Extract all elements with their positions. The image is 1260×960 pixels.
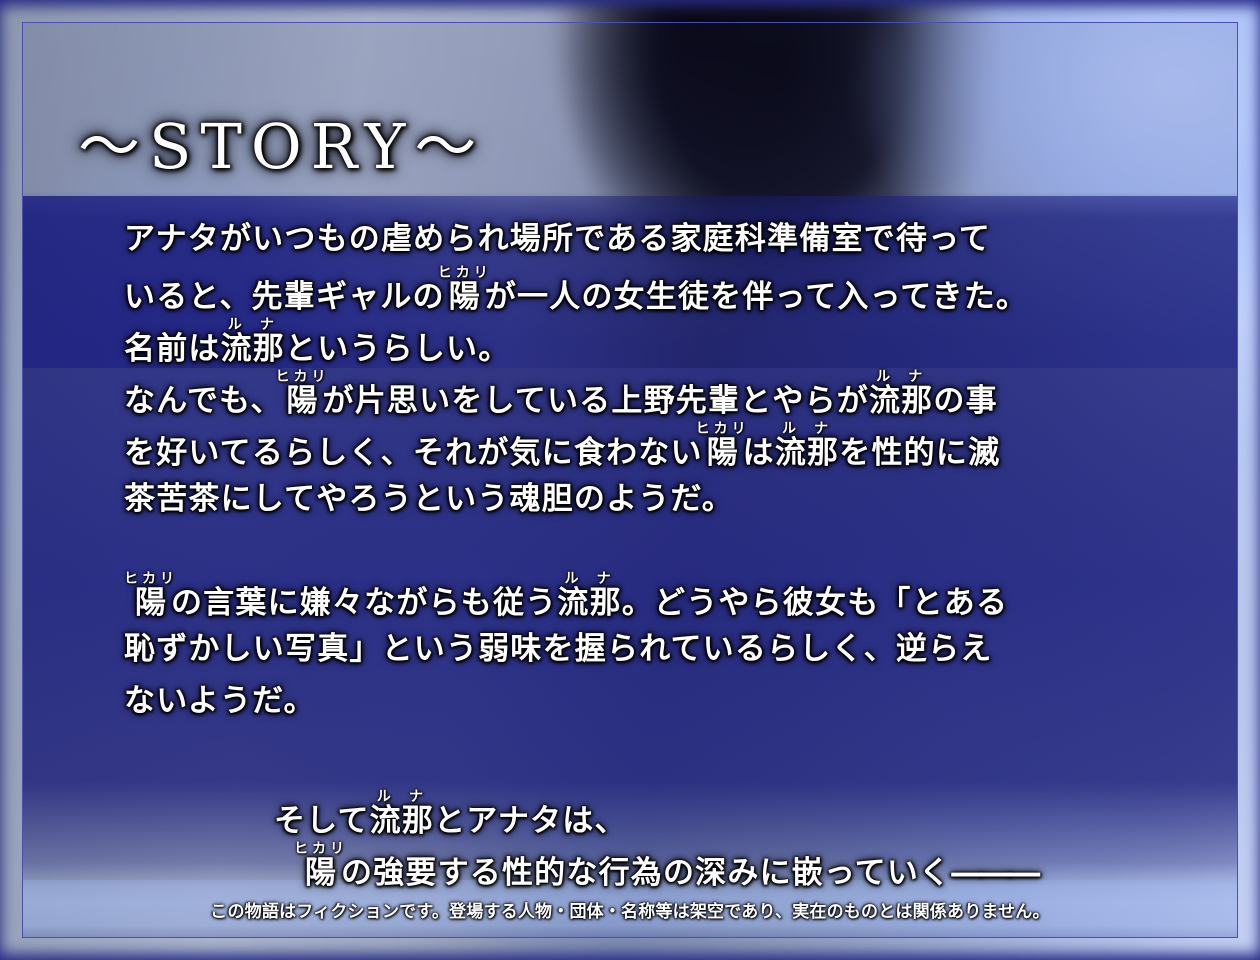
story-text: の言葉に嫌々ながらも従う — [171, 585, 557, 621]
page-title: ～STORY～ — [78, 96, 485, 186]
story-line: いると、先輩ギャルの陽ヒカリが一人の女生徒を伴って入ってきた。 — [124, 265, 1216, 317]
fiction-disclaimer: この物語はフィクションです。登場する人物・団体・名称等は架空であり、実在のものと… — [0, 897, 1260, 922]
story-line: アナタがいつもの虐められ場所である家庭科準備室で待って — [124, 213, 1216, 265]
story-paragraph-2: 陽ヒカリの言葉に嫌々ながらも従う流那ルナ。どうやら彼女も「とある 恥ずかしい写真… — [124, 571, 1216, 727]
ruby-runa: 流那ルナ — [869, 383, 933, 419]
content-layer: ～STORY～ アナタがいつもの虐められ場所である家庭科準備室で待って いると、… — [0, 0, 1260, 960]
story-text: は — [743, 435, 775, 471]
story-text: 茶苦茶にしてやろうという魂胆のようだ。 — [124, 481, 734, 517]
story-paragraph-1: アナタがいつもの虐められ場所である家庭科準備室で待って いると、先輩ギャルの陽ヒ… — [124, 213, 1216, 525]
ruby-annotation: ヒカリ — [276, 369, 330, 385]
story-text: が一人の女生徒を伴って入ってきた。 — [485, 279, 1028, 315]
ruby-annotation: ヒカリ — [696, 421, 750, 437]
ruby-base: 陽 — [294, 855, 348, 891]
story-em-dash: ――― — [951, 855, 1038, 891]
ruby-runa: 流那ルナ — [557, 585, 621, 621]
ruby-base: 流那 — [370, 803, 434, 839]
story-text: を性的に滅 — [839, 435, 1000, 471]
story-text: を好いてるらしく、それが気に食わない — [124, 435, 703, 471]
story-text: とアナタは、 — [434, 803, 627, 839]
story-line: ないようだ。 — [124, 675, 1216, 727]
ruby-annotation: ヒカリ — [438, 265, 492, 281]
ruby-annotation: ルナ — [221, 317, 285, 333]
story-line: そして流那ルナとアナタは、 — [124, 789, 1216, 841]
story-text: 。どうやら彼女も「とある — [622, 585, 1008, 621]
ruby-hikari: 陽ヒカリ — [294, 855, 341, 891]
ruby-annotation: ルナ — [775, 421, 839, 437]
story-text: 名前は — [124, 331, 221, 367]
ruby-base: 流那 — [775, 435, 839, 471]
ruby-runa: 流那ルナ — [221, 331, 285, 367]
story-paragraph-3: そして流那ルナとアナタは、 陽ヒカリの強要する性的な行為の深みに嵌っていく――― — [124, 789, 1216, 893]
ruby-annotation: ルナ — [557, 571, 621, 587]
ruby-hikari: 陽ヒカリ — [445, 279, 485, 315]
story-line: 名前は流那ルナというらしい。 — [124, 317, 1216, 369]
story-text: なんでも、 — [124, 383, 283, 419]
ruby-base: 流那 — [557, 585, 621, 621]
story-body: アナタがいつもの虐められ場所である家庭科準備室で待って いると、先輩ギャルの陽ヒ… — [124, 213, 1216, 893]
story-line: 陽ヒカリの強要する性的な行為の深みに嵌っていく――― — [124, 841, 1216, 893]
ruby-runa: 流那ルナ — [775, 435, 839, 471]
ruby-annotation: ルナ — [370, 789, 434, 805]
story-line: 恥ずかしい写真」という弱味を握られているらしく、逆らえ — [124, 623, 1216, 675]
story-text: アナタがいつもの虐められ場所である家庭科準備室で待って — [124, 221, 991, 257]
story-text: というらしい。 — [285, 331, 510, 367]
story-text: 恥ずかしい写真」という弱味を握られているらしく、逆らえ — [124, 631, 992, 667]
ruby-runa: 流那ルナ — [370, 803, 434, 839]
story-line: なんでも、陽ヒカリが片思いをしている上野先輩とやらが流那ルナの事 — [124, 369, 1216, 421]
ruby-hikari: 陽ヒカリ — [703, 435, 743, 471]
story-line: 陽ヒカリの言葉に嫌々ながらも従う流那ルナ。どうやら彼女も「とある — [124, 571, 1216, 623]
ruby-hikari: 陽ヒカリ — [124, 585, 171, 621]
ruby-annotation: ヒカリ — [124, 571, 178, 587]
ruby-base: 陽 — [438, 279, 492, 315]
story-line: を好いてるらしく、それが気に食わない陽ヒカリは流那ルナを性的に滅 — [124, 421, 1216, 473]
story-card: ～STORY～ アナタがいつもの虐められ場所である家庭科準備室で待って いると、… — [0, 0, 1260, 960]
story-text: の強要する性的な行為の深みに嵌っていく — [341, 855, 951, 891]
ruby-base: 陽 — [124, 585, 178, 621]
story-text: ないようだ。 — [124, 683, 316, 719]
story-text: の事 — [933, 383, 997, 419]
story-text: いると、先輩ギャルの — [124, 279, 445, 315]
story-text: が片思いをしている上野先輩とやらが — [323, 383, 869, 419]
ruby-hikari: 陽ヒカリ — [283, 383, 323, 419]
ruby-base: 陽 — [276, 383, 330, 419]
story-line: 茶苦茶にしてやろうという魂胆のようだ。 — [124, 473, 1216, 525]
ruby-annotation: ヒカリ — [294, 841, 348, 857]
story-text: そして — [274, 803, 370, 839]
ruby-base: 流那 — [869, 383, 933, 419]
ruby-annotation: ルナ — [869, 369, 933, 385]
ruby-base: 流那 — [221, 331, 285, 367]
ruby-base: 陽 — [696, 435, 750, 471]
